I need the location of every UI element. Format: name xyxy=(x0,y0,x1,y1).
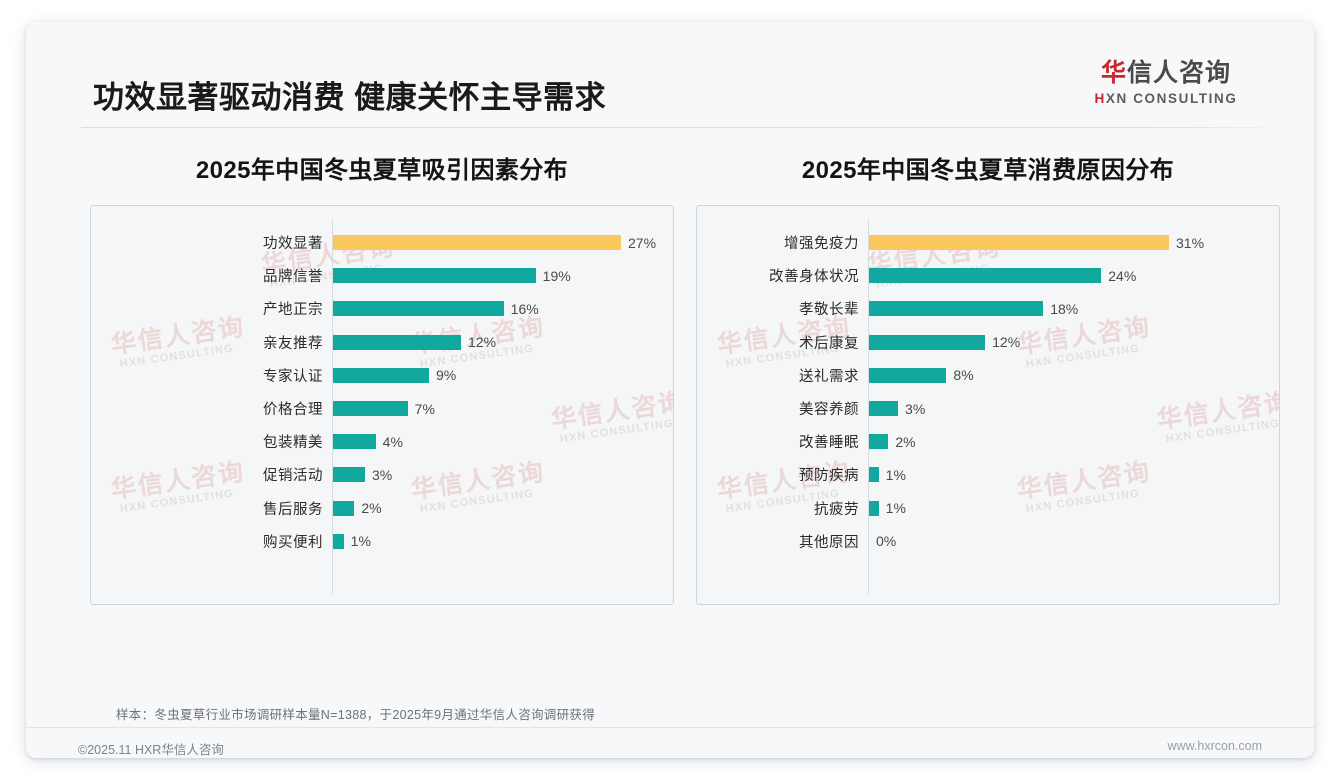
bar-category-label: 改善睡眠 xyxy=(697,431,859,452)
bar-wrapper: 2% xyxy=(869,425,1273,458)
chart-block-attraction-factors: 2025年中国冬虫夏草吸引因素分布 华信人咨询HXN CONSULTING华信人… xyxy=(90,150,674,605)
bar-rows: 增强免疫力31%改善身体状况24%孝敬长辈18%术后康复12%送礼需求8%美容养… xyxy=(697,226,1279,558)
bar-row: 售后服务2% xyxy=(91,492,673,525)
bar[interactable] xyxy=(869,268,1101,283)
logo-rest-chars: 信人咨询 xyxy=(1127,59,1231,87)
bar-row: 其他原因0% xyxy=(697,525,1279,558)
bar[interactable] xyxy=(333,301,504,316)
bar-wrapper: 0% xyxy=(869,525,1273,558)
bar-wrapper: 2% xyxy=(333,492,667,525)
logo-en-accent-char: H xyxy=(1095,91,1106,106)
bar-row: 品牌信誉19% xyxy=(91,259,673,292)
bar-value-label: 12% xyxy=(992,334,1020,350)
bar-row: 术后康复12% xyxy=(697,326,1279,359)
bar-value-label: 8% xyxy=(953,367,973,383)
bar-category-label: 美容养颜 xyxy=(697,398,859,419)
bar[interactable] xyxy=(869,235,1169,250)
bar-value-label: 4% xyxy=(383,434,403,450)
bar-row: 抗疲劳1% xyxy=(697,492,1279,525)
bar[interactable] xyxy=(333,401,408,416)
bar-category-label: 其他原因 xyxy=(697,531,859,552)
logo-english-text: HXN CONSULTING xyxy=(1066,91,1266,106)
bar-value-label: 3% xyxy=(905,401,925,417)
chart-block-consumption-reasons: 2025年中国冬虫夏草消费原因分布 华信人咨询HXN CONSULTING华信人… xyxy=(696,150,1280,605)
bar-row: 改善睡眠2% xyxy=(697,425,1279,458)
bar-category-label: 促销活动 xyxy=(91,464,323,485)
company-logo: 华信人咨询 HXN CONSULTING xyxy=(1066,60,1266,106)
bar-category-label: 孝敬长辈 xyxy=(697,298,859,319)
bar-value-label: 2% xyxy=(361,500,381,516)
bar[interactable] xyxy=(333,467,365,482)
bar-category-label: 增强免疫力 xyxy=(697,232,859,253)
bar[interactable] xyxy=(869,368,946,383)
bar-rows: 功效显著27%品牌信誉19%产地正宗16%亲友推荐12%专家认证9%价格合理7%… xyxy=(91,226,673,558)
bar[interactable] xyxy=(333,434,376,449)
bar-wrapper: 16% xyxy=(333,292,667,325)
bar-wrapper: 31% xyxy=(869,226,1273,259)
bar-value-label: 2% xyxy=(895,434,915,450)
bar[interactable] xyxy=(333,235,621,250)
bar-row: 改善身体状况24% xyxy=(697,259,1279,292)
bar-wrapper: 7% xyxy=(333,392,667,425)
bar-category-label: 售后服务 xyxy=(91,498,323,519)
chart-title: 2025年中国冬虫夏草吸引因素分布 xyxy=(90,150,674,185)
logo-chinese-text: 华信人咨询 xyxy=(1066,60,1266,88)
bar-category-label: 价格合理 xyxy=(91,398,323,419)
bar[interactable] xyxy=(869,335,985,350)
bar-row: 美容养颜3% xyxy=(697,392,1279,425)
bar-row: 价格合理7% xyxy=(91,392,673,425)
page-title: 功效显著驱动消费 健康关怀主导需求 xyxy=(93,72,606,117)
charts-container: 2025年中国冬虫夏草吸引因素分布 华信人咨询HXN CONSULTING华信人… xyxy=(26,150,1314,670)
chart-panel: 华信人咨询HXN CONSULTING华信人咨询HXN CONSULTING华信… xyxy=(90,205,674,605)
bar[interactable] xyxy=(869,401,898,416)
bar-wrapper: 12% xyxy=(333,326,667,359)
bar[interactable] xyxy=(869,434,888,449)
chart-panel: 华信人咨询HXN CONSULTING华信人咨询HXN CONSULTING华信… xyxy=(696,205,1280,605)
bar[interactable] xyxy=(869,301,1043,316)
slide-footer: ©2025.11 HXR华信人咨询 www.hxrcon.com xyxy=(26,728,1314,758)
bar-wrapper: 9% xyxy=(333,359,667,392)
bar[interactable] xyxy=(333,534,344,549)
bar[interactable] xyxy=(333,335,461,350)
bar-wrapper: 1% xyxy=(869,458,1273,491)
bar-value-label: 1% xyxy=(351,533,371,549)
bar[interactable] xyxy=(333,501,354,516)
bar-value-label: 0% xyxy=(876,533,896,549)
bar[interactable] xyxy=(333,268,536,283)
bar[interactable] xyxy=(869,467,879,482)
bar-category-label: 预防疾病 xyxy=(697,464,859,485)
bar-wrapper: 18% xyxy=(869,292,1273,325)
bar-value-label: 7% xyxy=(415,401,435,417)
bar-value-label: 3% xyxy=(372,467,392,483)
bar-row: 预防疾病1% xyxy=(697,458,1279,491)
bar-row: 专家认证9% xyxy=(91,359,673,392)
bar-value-label: 31% xyxy=(1176,235,1204,251)
bar-category-label: 送礼需求 xyxy=(697,365,859,386)
bar-category-label: 专家认证 xyxy=(91,365,323,386)
bar-category-label: 品牌信誉 xyxy=(91,265,323,286)
bar-value-label: 18% xyxy=(1050,301,1078,317)
website-link[interactable]: www.hxrcon.com xyxy=(1168,739,1262,753)
slide-card: 功效显著驱动消费 健康关怀主导需求 华信人咨询 HXN CONSULTING 2… xyxy=(26,22,1314,758)
bar-wrapper: 4% xyxy=(333,425,667,458)
bar-value-label: 1% xyxy=(886,500,906,516)
bar-category-label: 包装精美 xyxy=(91,431,323,452)
bar-wrapper: 8% xyxy=(869,359,1273,392)
logo-accent-char: 华 xyxy=(1101,59,1127,87)
bar-value-label: 19% xyxy=(543,268,571,284)
logo-en-rest: XN CONSULTING xyxy=(1106,91,1238,106)
bar-row: 增强免疫力31% xyxy=(697,226,1279,259)
bar-category-label: 抗疲劳 xyxy=(697,498,859,519)
bar-wrapper: 27% xyxy=(333,226,667,259)
copyright-text: ©2025.11 HXR华信人咨询 xyxy=(78,739,224,758)
bar-category-label: 产地正宗 xyxy=(91,298,323,319)
bar-category-label: 改善身体状况 xyxy=(697,265,859,286)
chart-title: 2025年中国冬虫夏草消费原因分布 xyxy=(696,150,1280,185)
bar-row: 功效显著27% xyxy=(91,226,673,259)
bar-category-label: 术后康复 xyxy=(697,332,859,353)
bar-row: 购买便利1% xyxy=(91,525,673,558)
bar-category-label: 功效显著 xyxy=(91,232,323,253)
bar-value-label: 12% xyxy=(468,334,496,350)
bar-value-label: 24% xyxy=(1108,268,1136,284)
bar-row: 亲友推荐12% xyxy=(91,326,673,359)
bar-value-label: 1% xyxy=(886,467,906,483)
bar-wrapper: 3% xyxy=(869,392,1273,425)
bar-wrapper: 1% xyxy=(333,525,667,558)
bar[interactable] xyxy=(869,501,879,516)
bar-wrapper: 24% xyxy=(869,259,1273,292)
bar-row: 包装精美4% xyxy=(91,425,673,458)
bar-category-label: 购买便利 xyxy=(91,531,323,552)
bar-wrapper: 19% xyxy=(333,259,667,292)
bar-row: 送礼需求8% xyxy=(697,359,1279,392)
slide-header: 功效显著驱动消费 健康关怀主导需求 华信人咨询 HXN CONSULTING xyxy=(26,22,1314,126)
bar-value-label: 27% xyxy=(628,235,656,251)
bar-row: 促销活动3% xyxy=(91,458,673,491)
bar-row: 产地正宗16% xyxy=(91,292,673,325)
bar-wrapper: 1% xyxy=(869,492,1273,525)
bar-row: 孝敬长辈18% xyxy=(697,292,1279,325)
bar[interactable] xyxy=(333,368,429,383)
bar-wrapper: 3% xyxy=(333,458,667,491)
header-divider xyxy=(81,127,1261,128)
sample-footnote: 样本：冬虫夏草行业市场调研样本量N=1388，于2025年9月通过华信人咨询调研… xyxy=(116,704,595,723)
bar-value-label: 16% xyxy=(511,301,539,317)
bar-category-label: 亲友推荐 xyxy=(91,332,323,353)
bar-value-label: 9% xyxy=(436,367,456,383)
bar-wrapper: 12% xyxy=(869,326,1273,359)
